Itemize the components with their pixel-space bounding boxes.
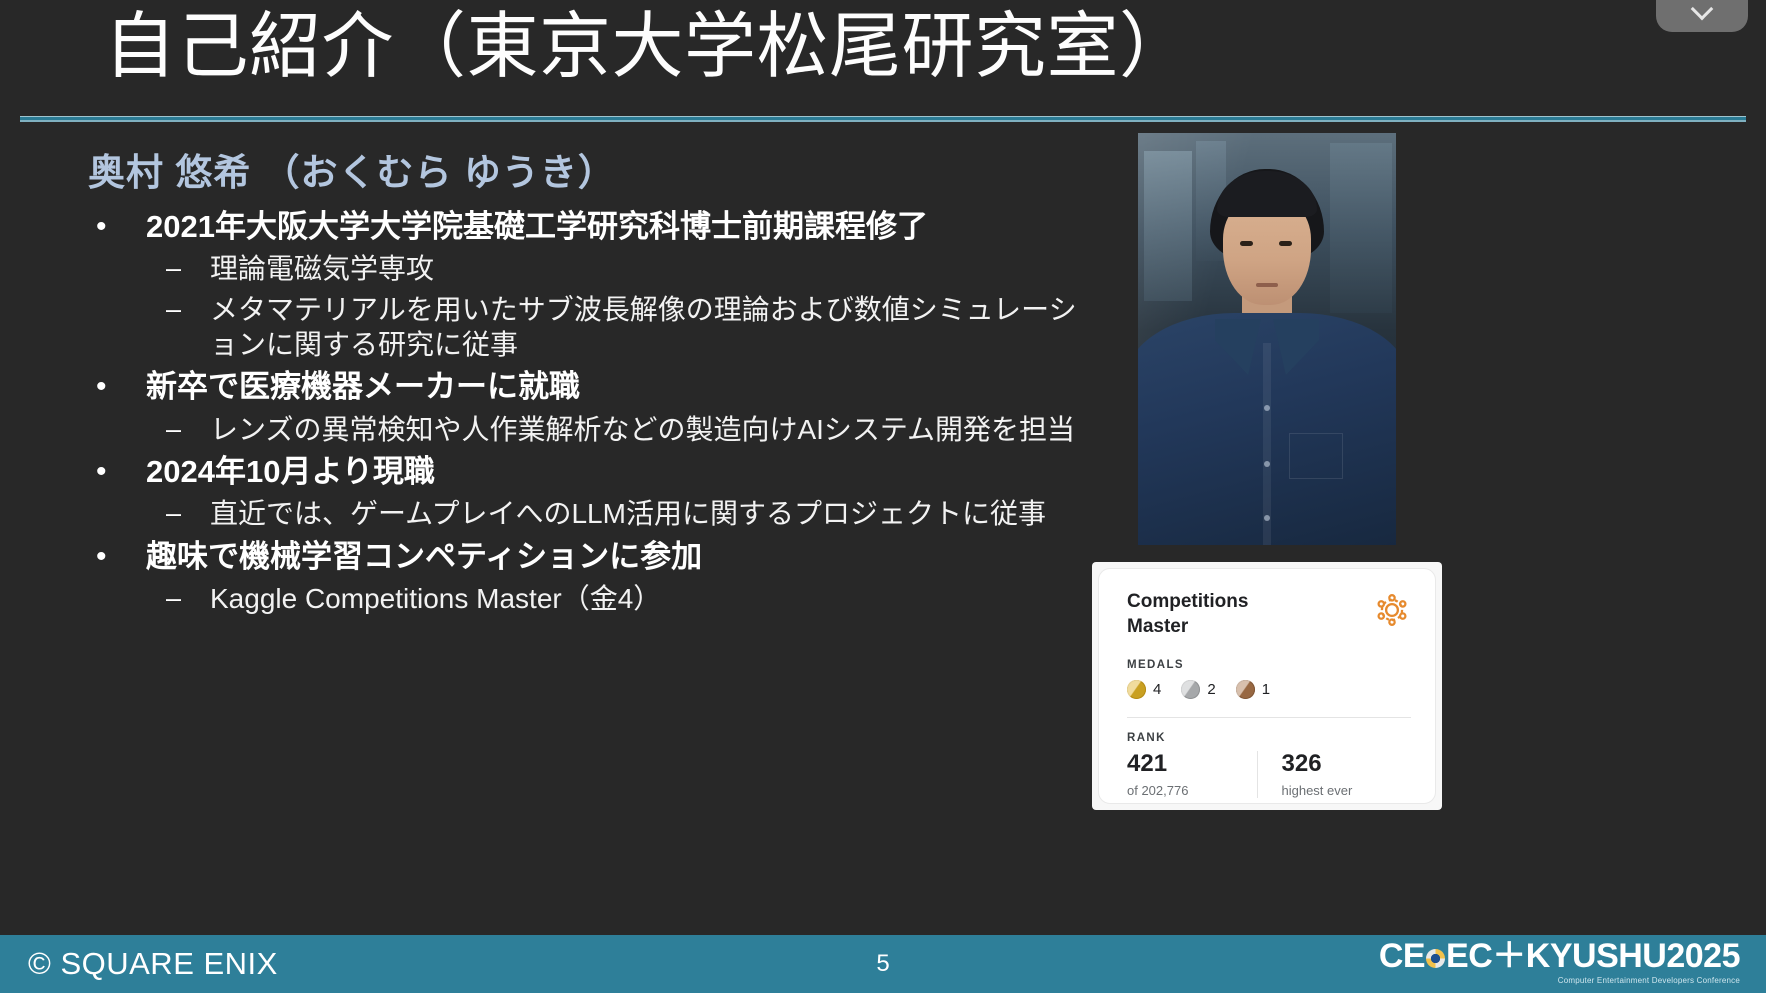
medals-label: MEDALS — [1127, 659, 1411, 671]
bullet-level2-text: Kaggle Competitions Master（金4） — [210, 581, 661, 616]
slide-root: 自己紹介（東京大学松尾研究室） 奥村 悠希 （おくむら ゆうき） • 2021年… — [0, 0, 1766, 993]
medal-item-gold: 4 — [1127, 680, 1161, 699]
slide-footer: © SQUARE ENIX 5 CE EC＋KYUSHU2025 Compute… — [0, 935, 1766, 993]
bullet-level2: – メタマテリアルを用いたサブ波長解像の理論および数値シミュレーションに関する研… — [88, 292, 1088, 363]
chevron-down-icon — [1691, 0, 1714, 20]
rank-best-value: 326 — [1282, 751, 1402, 777]
bullet-level2-text: メタマテリアルを用いたサブ波長解像の理論および数値シミュレーションに関する研究に… — [210, 292, 1088, 363]
person-name: 奥村 悠希 （おくむら ゆうき） — [88, 142, 1088, 196]
kaggle-tier-title: Competitions Master — [1127, 589, 1307, 639]
kaggle-card-inner: Competitions Master MEDALS — [1098, 568, 1436, 804]
cedec-emblem-icon — [1426, 949, 1445, 968]
rank-columns: 421 of 202,776 326 highest ever — [1127, 751, 1411, 797]
silver-medal-icon — [1181, 680, 1200, 699]
rank-current-subtext: of 202,776 — [1127, 783, 1247, 798]
dash-marker-icon: – — [166, 292, 210, 327]
bullet-level1: • 2021年大阪大学大学院基礎工学研究科博士前期課程修了 — [88, 208, 1088, 246]
bullet-level1-text: 2021年大阪大学大学院基礎工学研究科博士前期課程修了 — [146, 208, 928, 246]
bullet-marker-icon: • — [88, 208, 146, 246]
bronze-medal-count: 1 — [1262, 681, 1270, 698]
portrait-shirt-pocket — [1289, 433, 1343, 479]
medal-item-silver: 2 — [1181, 680, 1215, 699]
gold-medal-count: 4 — [1153, 681, 1161, 698]
kaggle-profile-card: Competitions Master MEDALS — [1092, 562, 1442, 810]
portrait-window-blur — [1330, 143, 1392, 313]
collapse-control-blob[interactable] — [1656, 0, 1748, 32]
bullet-level1: • 趣味で機械学習コンペティションに参加 — [88, 538, 1088, 576]
dash-marker-icon: – — [166, 581, 210, 616]
gear-icon — [1373, 591, 1411, 629]
bullet-level2-text: 直近では、ゲームプレイへのLLM活用に関するプロジェクトに従事 — [210, 496, 1046, 531]
rank-current-column: 421 of 202,776 — [1127, 751, 1257, 797]
conference-tagline: Computer Entertainment Developers Confer… — [1379, 976, 1740, 985]
page-title: 自己紹介（東京大学松尾研究室） — [104, 8, 1192, 87]
bullet-level1: • 新卒で医療機器メーカーに就職 — [88, 368, 1088, 406]
rank-block: RANK 421 of 202,776 326 highest ever — [1127, 732, 1411, 797]
bullet-level2: – 直近では、ゲームプレイへのLLM活用に関するプロジェクトに従事 — [88, 496, 1088, 531]
dash-marker-icon: – — [166, 496, 210, 531]
portrait-eye-left — [1240, 241, 1253, 246]
bullet-level2: – Kaggle Competitions Master（金4） — [88, 581, 1088, 616]
conference-logo-left: CE — [1379, 939, 1425, 973]
bullet-level2: – 理論電磁気学専攻 — [88, 251, 1088, 286]
portrait-shirt-button — [1264, 515, 1270, 521]
portrait-shirt-button — [1264, 405, 1270, 411]
bronze-medal-icon — [1236, 680, 1255, 699]
bullet-level2-text: レンズの異常検知や人作業解析などの製造向けAIシステム開発を担当 — [210, 412, 1075, 447]
bullet-level1-text: 新卒で医療機器メーカーに就職 — [146, 368, 580, 406]
conference-logo-right: EC＋KYUSHU2025 — [1446, 939, 1740, 973]
rank-label: RANK — [1127, 732, 1411, 744]
bullet-level2: – レンズの異常検知や人作業解析などの製造向けAIシステム開発を担当 — [88, 412, 1088, 447]
bullet-level2-text: 理論電磁気学専攻 — [210, 251, 434, 286]
portrait-shirt-button — [1264, 461, 1270, 467]
portrait-photo — [1138, 133, 1396, 545]
medal-item-bronze: 1 — [1236, 680, 1270, 699]
conference-logo: CE EC＋KYUSHU2025 Computer Entertainment … — [1379, 939, 1740, 985]
silver-medal-count: 2 — [1207, 681, 1215, 698]
portrait-mouth — [1256, 283, 1278, 287]
dash-marker-icon: – — [166, 412, 210, 447]
conference-logo-wordmark: CE EC＋KYUSHU2025 — [1379, 939, 1740, 973]
rank-current-value: 421 — [1127, 751, 1247, 777]
rank-best-subtext: highest ever — [1282, 783, 1402, 798]
title-divider — [20, 116, 1746, 122]
bullet-marker-icon: • — [88, 368, 146, 406]
portrait-window-blur — [1144, 151, 1192, 301]
dash-marker-icon: – — [166, 251, 210, 286]
rank-best-column: 326 highest ever — [1257, 751, 1412, 797]
bullet-marker-icon: • — [88, 453, 146, 491]
slide-body: 奥村 悠希 （おくむら ゆうき） • 2021年大阪大学大学院基礎工学研究科博士… — [88, 142, 1088, 616]
bullet-level1-text: 2024年10月より現職 — [146, 453, 435, 491]
bullet-level1-text: 趣味で機械学習コンペティションに参加 — [146, 538, 702, 576]
bullet-marker-icon: • — [88, 538, 146, 576]
card-divider — [1127, 717, 1411, 718]
gold-medal-icon — [1127, 680, 1146, 699]
medals-row: 4 2 1 — [1127, 680, 1411, 699]
portrait-eye-right — [1279, 241, 1292, 246]
bullet-level1: • 2024年10月より現職 — [88, 453, 1088, 491]
